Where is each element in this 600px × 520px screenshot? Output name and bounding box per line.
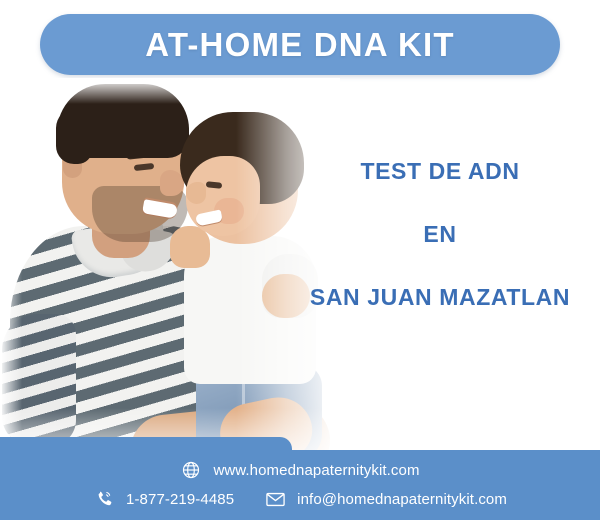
footer-row-phone-email: 1-877-219-4485 info@homednapaternitykit.… [0, 488, 600, 510]
website-text: www.homednapaternitykit.com [213, 462, 419, 479]
globe-icon [180, 459, 202, 481]
family-photo [0, 78, 340, 460]
headline-line-2: EN [290, 223, 590, 246]
man-sideburn [56, 108, 92, 164]
child-hand [170, 226, 210, 268]
banner-title: AT-HOME DNA KIT [145, 28, 454, 61]
website-contact[interactable]: www.homednapaternitykit.com [180, 459, 419, 481]
phone-contact[interactable]: 1-877-219-4485 [93, 488, 234, 510]
headline-line-3: SAN JUAN MAZATLAN [290, 286, 590, 309]
envelope-icon [264, 488, 286, 510]
headline-block: TEST DE ADN EN SAN JUAN MAZATLAN [290, 160, 590, 309]
headline-line-1: TEST DE ADN [290, 160, 590, 183]
phone-icon [93, 488, 115, 510]
child-nose [186, 182, 206, 204]
email-contact[interactable]: info@homednapaternitykit.com [264, 488, 507, 510]
email-text: info@homednapaternitykit.com [297, 491, 507, 508]
photo-fade-left [0, 78, 22, 460]
phone-text: 1-877-219-4485 [126, 491, 234, 508]
promo-banner-image: AT-HOME DNA KIT [0, 0, 600, 520]
footer-contact-bar: www.homednapaternitykit.com 1-877-219-44… [0, 437, 600, 520]
footer-row-website: www.homednapaternitykit.com [0, 459, 600, 481]
header-banner: AT-HOME DNA KIT [40, 14, 560, 75]
